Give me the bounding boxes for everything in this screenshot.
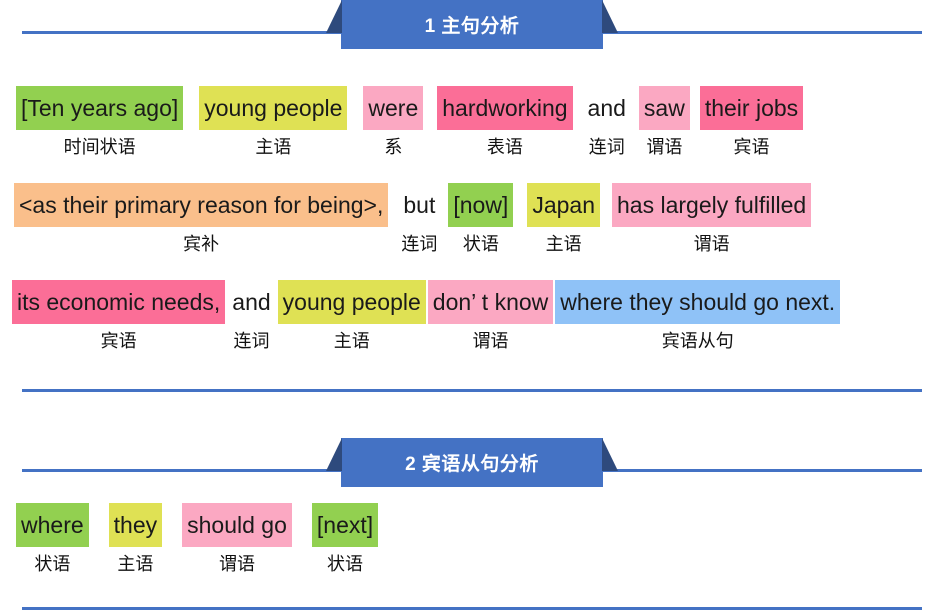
- chunk-text: and: [583, 86, 631, 130]
- chunk-text: and: [227, 280, 275, 324]
- chunk-text: [now]: [448, 183, 513, 227]
- chunk[interactable]: its economic needs, 宾语: [12, 280, 225, 358]
- chunk[interactable]: where 状语: [16, 503, 89, 581]
- chunk-label: 主语: [115, 547, 155, 581]
- chunk[interactable]: has largely fulfilled 谓语: [612, 183, 811, 261]
- chunk[interactable]: they 主语: [109, 503, 162, 581]
- chunk-text: <as their primary reason for being>,: [14, 183, 388, 227]
- chunk-label: 谓语: [217, 547, 257, 581]
- page-bottom-rule: [22, 607, 922, 610]
- chunk[interactable]: Japan 主语: [527, 183, 600, 261]
- analysis-row-1: [Ten years ago] 时间状语 young people 主语 wer…: [0, 86, 944, 172]
- ribbon-tail-left-icon: [326, 0, 342, 33]
- chunk-label: 谓语: [692, 227, 732, 261]
- ribbon-tail-left-icon: [326, 438, 342, 471]
- chunk-text: where they should go next.: [555, 280, 840, 324]
- analysis-row-2: <as their primary reason for being>, 宾补 …: [0, 183, 944, 269]
- chunk-text: young people: [278, 280, 426, 324]
- chunk[interactable]: young people 主语: [199, 86, 347, 164]
- ribbon-tail-right-icon: [602, 0, 618, 33]
- chunk-label: 宾语: [99, 324, 139, 358]
- chunk[interactable]: hardworking 表语: [437, 86, 572, 164]
- chunk-label: 表语: [485, 130, 525, 164]
- chunk[interactable]: and 连词: [583, 86, 631, 164]
- chunk-text: [Ten years ago]: [16, 86, 183, 130]
- chunk-label: 主语: [332, 324, 372, 358]
- chunk-text: young people: [199, 86, 347, 130]
- chunk[interactable]: [now] 状语: [448, 183, 513, 261]
- sentence-analysis-page: 1 主句分析 [Ten years ago] 时间状语 young people…: [0, 0, 944, 614]
- chunk-label: 谓语: [471, 324, 511, 358]
- section-title-2: 2 宾语从句分析: [341, 438, 603, 487]
- chunk-text: Japan: [527, 183, 600, 227]
- chunk-text: hardworking: [437, 86, 572, 130]
- chunk-text: should go: [182, 503, 292, 547]
- analysis-row-3: its economic needs, 宾语 and 连词 young peop…: [0, 280, 944, 366]
- chunk-label: 宾语: [731, 130, 771, 164]
- chunk-text: but: [398, 183, 440, 227]
- section-banner-1: 1 主句分析: [0, 0, 944, 50]
- chunk[interactable]: [Ten years ago] 时间状语: [16, 86, 183, 164]
- chunk[interactable]: but 连词: [398, 183, 440, 261]
- chunk[interactable]: young people 主语: [278, 280, 426, 358]
- section-banner-2: 2 宾语从句分析: [0, 438, 944, 488]
- chunk-text: [next]: [312, 503, 378, 547]
- section-title-2-label: 2 宾语从句分析: [405, 449, 539, 476]
- chunk[interactable]: <as their primary reason for being>, 宾补: [14, 183, 388, 261]
- chunk-text: its economic needs,: [12, 280, 225, 324]
- chunk-label: 主语: [253, 130, 293, 164]
- chunk-text: don’ t know: [428, 280, 554, 324]
- chunk-text: has largely fulfilled: [612, 183, 811, 227]
- chunk-label: 宾语从句: [660, 324, 736, 358]
- section-divider: [22, 389, 922, 392]
- chunk-label: 连词: [399, 227, 439, 261]
- chunk-text: saw: [639, 86, 690, 130]
- chunk[interactable]: and 连词: [227, 280, 275, 358]
- chunk[interactable]: their jobs 宾语: [700, 86, 803, 164]
- section-title-1-label: 1 主句分析: [425, 11, 520, 38]
- chunk-text: where: [16, 503, 89, 547]
- chunk[interactable]: [next] 状语: [312, 503, 378, 581]
- chunk-label: 状语: [461, 227, 501, 261]
- chunk-label: 时间状语: [62, 130, 138, 164]
- chunk-text: were: [363, 86, 423, 130]
- chunk-text: they: [109, 503, 162, 547]
- chunk[interactable]: saw 谓语: [639, 86, 690, 164]
- chunk-label: 状语: [32, 547, 72, 581]
- chunk-label: 系: [382, 130, 404, 164]
- chunk-label: 状语: [325, 547, 365, 581]
- analysis-row-4: where 状语 they 主语 should go 谓语 [next] 状语: [0, 503, 944, 589]
- ribbon-tail-right-icon: [602, 438, 618, 471]
- chunk-label: 连词: [587, 130, 627, 164]
- chunk[interactable]: don’ t know 谓语: [428, 280, 554, 358]
- chunk-label: 主语: [544, 227, 584, 261]
- chunk-label: 宾补: [181, 227, 221, 261]
- chunk-label: 谓语: [644, 130, 684, 164]
- chunk[interactable]: should go 谓语: [182, 503, 292, 581]
- chunk[interactable]: where they should go next. 宾语从句: [555, 280, 840, 358]
- chunk-label: 连词: [231, 324, 271, 358]
- section-title-1: 1 主句分析: [341, 0, 603, 49]
- chunk-text: their jobs: [700, 86, 803, 130]
- chunk[interactable]: were 系: [363, 86, 423, 164]
